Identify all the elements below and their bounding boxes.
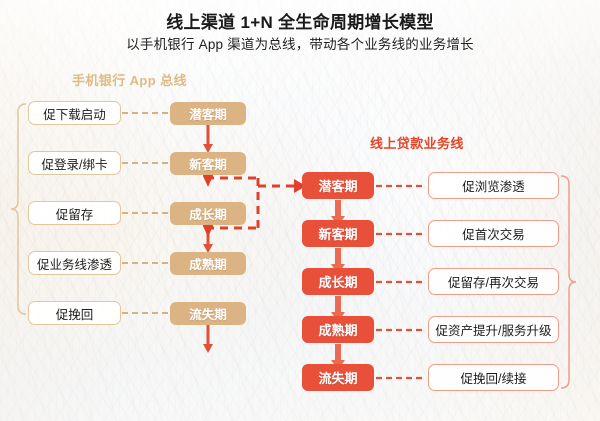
left-action-0[interactable]: 促下载启动: [28, 101, 121, 125]
right-stage-0[interactable]: 潜客期: [302, 172, 374, 199]
right-action-3-label: 促资产提升/服务升级: [436, 320, 552, 339]
right-stage-1[interactable]: 新客期: [302, 220, 374, 247]
left-stage-0-label: 潜客期: [189, 104, 227, 123]
left-action-1-label: 促登录/绑卡: [42, 154, 108, 173]
right-stage-3[interactable]: 成熟期: [302, 316, 374, 343]
left-stage-3-label: 成熟期: [189, 254, 227, 273]
left-action-3[interactable]: 促业务线渗透: [28, 251, 121, 275]
right-action-2[interactable]: 促留存/再次交易: [428, 268, 559, 295]
left-action-0-label: 促下载启动: [43, 104, 106, 123]
left-stage-4[interactable]: 流失期: [170, 302, 246, 325]
left-stage-0[interactable]: 潜客期: [170, 102, 246, 125]
left-stage-2[interactable]: 成长期: [170, 202, 246, 225]
right-action-0-label: 促浏览渗透: [462, 176, 525, 195]
right-action-1[interactable]: 促首次交易: [428, 220, 559, 247]
right-action-3[interactable]: 促资产提升/服务升级: [428, 316, 559, 343]
left-action-4-label: 促挽回: [56, 304, 94, 323]
section-heading-right: 线上贷款业务线: [370, 133, 464, 152]
left-stage-4-label: 流失期: [189, 304, 227, 323]
right-stage-4-label: 流失期: [318, 368, 357, 387]
left-action-3-label: 促业务线渗透: [37, 254, 112, 273]
left-action-2-label: 促留存: [56, 204, 94, 223]
right-action-4-label: 促挽回/续接: [461, 368, 527, 387]
right-stage-3-label: 成熟期: [318, 320, 357, 339]
page-title: 线上渠道 1+N 全生命周期增长模型: [0, 8, 600, 33]
left-stage-2-label: 成长期: [189, 204, 227, 223]
right-stage-4[interactable]: 流失期: [302, 364, 374, 391]
left-action-4[interactable]: 促挽回: [28, 301, 121, 325]
right-action-0[interactable]: 促浏览渗透: [428, 172, 559, 199]
left-stage-1[interactable]: 新客期: [170, 152, 246, 175]
right-stage-2-label: 成长期: [318, 272, 357, 291]
left-stage-3[interactable]: 成熟期: [170, 252, 246, 275]
left-action-2[interactable]: 促留存: [28, 201, 121, 225]
right-stage-0-label: 潜客期: [318, 176, 357, 195]
diagram-canvas: 线上渠道 1+N 全生命周期增长模型 以手机银行 App 渠道为总线，带动各个业…: [0, 0, 600, 421]
right-stage-2[interactable]: 成长期: [302, 268, 374, 295]
right-stage-1-label: 新客期: [318, 224, 357, 243]
right-action-1-label: 促首次交易: [462, 224, 525, 243]
left-action-1[interactable]: 促登录/绑卡: [28, 151, 121, 175]
right-action-4[interactable]: 促挽回/续接: [428, 364, 559, 391]
page-subtitle: 以手机银行 App 渠道为总线，带动各个业务线的业务增长: [0, 33, 600, 53]
section-heading-left: 手机银行 App 总线: [72, 70, 187, 89]
right-action-2-label: 促留存/再次交易: [448, 272, 539, 291]
left-stage-1-label: 新客期: [189, 154, 227, 173]
